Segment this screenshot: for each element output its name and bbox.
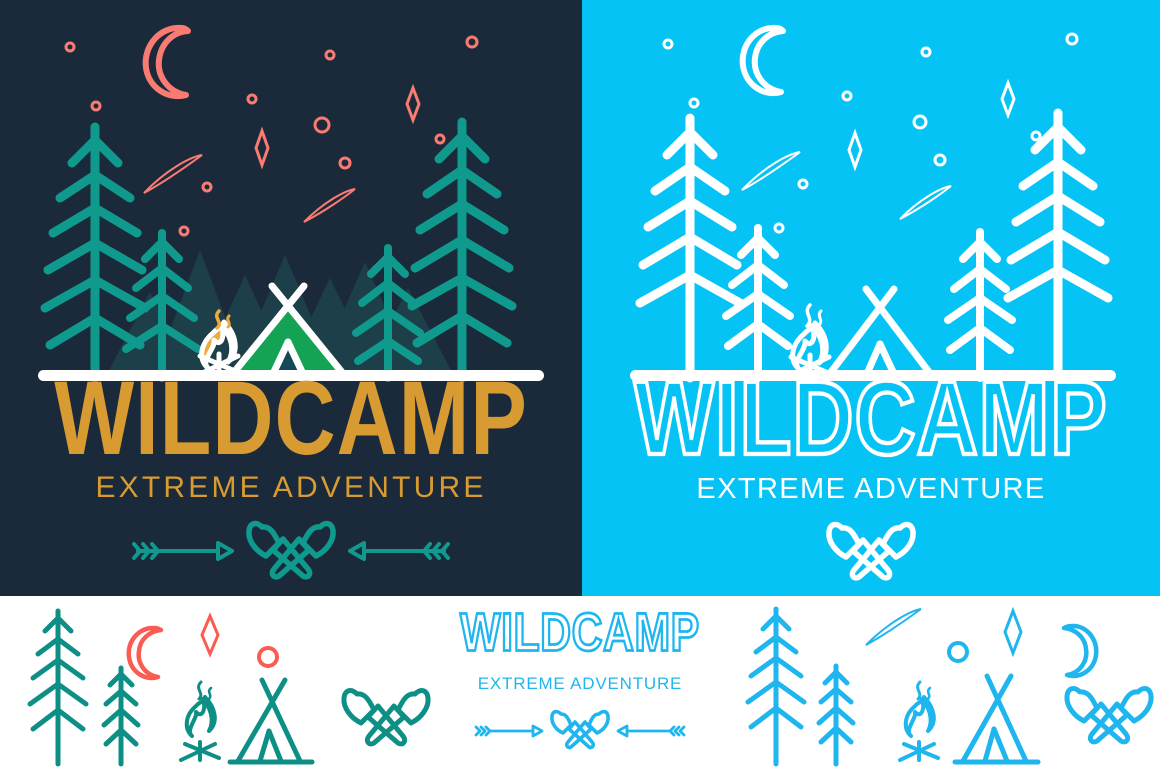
tagline: EXTREME ADVENTURE <box>95 471 486 504</box>
icon-strip-artwork: WILDCAMP EXTREME ADVENTURE <box>0 596 1160 772</box>
dark-badge-panel: WILDCAMP EXTREME ADVENTURE <box>0 0 582 596</box>
strip-tagline: EXTREME ADVENTURE <box>478 674 682 693</box>
wordmark-text: WILDCAMP <box>54 361 528 478</box>
tagline: EXTREME ADVENTURE <box>696 473 1045 505</box>
wordmark: WILDCAMP <box>54 361 528 478</box>
logo-set-canvas: WILDCAMP EXTREME ADVENTURE <box>0 0 1160 772</box>
strip-wordmark-outline: WILDCAMP <box>460 603 700 663</box>
icon-strip: WILDCAMP EXTREME ADVENTURE <box>0 596 1160 772</box>
wordmark-outline-text: WILDCAMP <box>634 361 1108 478</box>
dark-badge-artwork: WILDCAMP EXTREME ADVENTURE <box>0 0 582 596</box>
cyan-badge-panel: WILDCAMP EXTREME ADVENTURE <box>582 0 1160 596</box>
cyan-badge-artwork: WILDCAMP EXTREME ADVENTURE <box>582 0 1160 596</box>
